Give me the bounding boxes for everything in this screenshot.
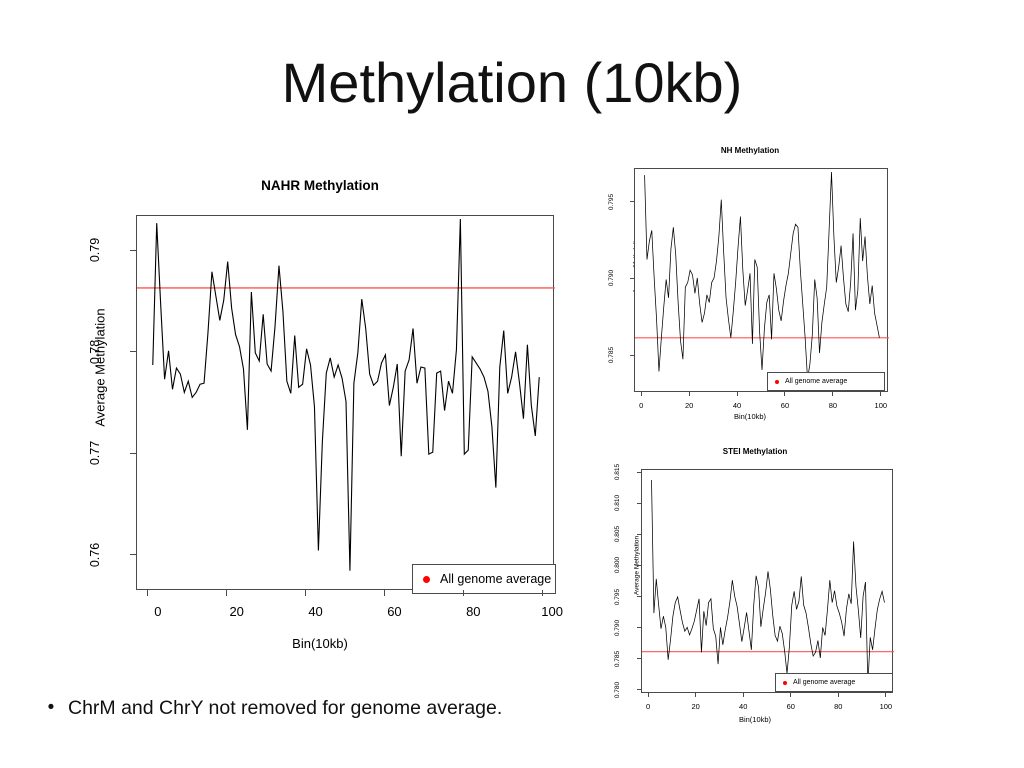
x-tick-mark	[880, 392, 881, 396]
series-line-stei	[642, 470, 894, 694]
y-tick-mark	[637, 503, 641, 504]
x-tick-label: 100	[522, 604, 582, 619]
legend-label-all-genome-average: All genome average	[440, 572, 551, 586]
chart-title-stei: STEI Methylation	[605, 447, 905, 456]
chart-title-nahr: NAHR Methylation	[70, 178, 570, 193]
y-tick-mark	[637, 627, 641, 628]
y-tick-mark	[130, 554, 136, 555]
y-tick-label: 0.805	[609, 521, 627, 547]
series-line-nh	[635, 169, 889, 393]
x-tick-mark	[695, 693, 696, 697]
y-tick-label: 0.790	[609, 615, 627, 641]
legend-dot-icon	[783, 681, 787, 685]
x-tick-label: 40	[286, 604, 346, 619]
x-tick-label: 100	[861, 401, 901, 410]
x-axis-label-nahr: Bin(10kb)	[70, 636, 570, 651]
x-tick-label: 80	[818, 702, 858, 711]
x-tick-mark	[305, 590, 306, 596]
plot-area-stei	[641, 469, 893, 693]
x-tick-mark	[784, 392, 785, 396]
y-tick-mark	[630, 278, 634, 279]
legend-nahr: All genome average	[412, 564, 556, 594]
chart-title-nh: NH Methylation	[600, 146, 900, 155]
y-tick-mark	[637, 472, 641, 473]
x-tick-label: 40	[723, 702, 763, 711]
x-axis-label-nh: Bin(10kb)	[600, 412, 900, 421]
legend-nh: All genome average	[767, 372, 885, 391]
y-tick-label: 0.790	[603, 266, 621, 290]
x-tick-mark	[147, 590, 148, 596]
y-tick-label: 0.795	[603, 190, 621, 214]
x-tick-mark	[463, 590, 464, 596]
bullet-list: • ChrM and ChrY not removed for genome a…	[34, 694, 654, 722]
x-tick-label: 80	[443, 604, 503, 619]
legend-stei: All genome average	[775, 673, 893, 692]
y-tick-mark	[637, 534, 641, 535]
x-tick-label: 100	[866, 702, 906, 711]
y-tick-label: 0.78	[86, 327, 104, 377]
x-tick-mark	[885, 693, 886, 697]
y-tick-mark	[637, 565, 641, 566]
legend-label-all-genome-average: All genome average	[785, 378, 847, 385]
x-tick-label: 60	[364, 604, 424, 619]
x-tick-mark	[226, 590, 227, 596]
x-tick-label: 80	[813, 401, 853, 410]
x-tick-mark	[743, 693, 744, 697]
y-tick-mark	[630, 355, 634, 356]
chart-stei-methylation: STEI Methylation Average Methylation Bin…	[605, 442, 905, 737]
x-tick-label: 20	[676, 702, 716, 711]
x-tick-label: 60	[765, 401, 805, 410]
y-tick-mark	[637, 658, 641, 659]
x-tick-label: 60	[771, 702, 811, 711]
chart-nh-methylation: NH Methylation Average Methylation Bin(1…	[600, 140, 900, 430]
x-tick-mark	[838, 693, 839, 697]
y-tick-label: 0.800	[609, 552, 627, 578]
y-tick-mark	[630, 201, 634, 202]
x-tick-mark	[832, 392, 833, 396]
x-tick-mark	[737, 392, 738, 396]
x-tick-label: 40	[717, 401, 757, 410]
y-tick-label: 0.77	[86, 428, 104, 478]
y-tick-label: 0.785	[609, 646, 627, 672]
y-tick-label: 0.815	[609, 459, 627, 485]
legend-label-all-genome-average: All genome average	[793, 679, 855, 686]
y-tick-label: 0.79	[86, 225, 104, 275]
series-line-nahr	[137, 216, 555, 591]
x-tick-label: 0	[128, 604, 188, 619]
legend-dot-icon	[423, 576, 430, 583]
y-tick-mark	[130, 351, 136, 352]
y-tick-mark	[637, 689, 641, 690]
y-tick-mark	[130, 250, 136, 251]
y-tick-label: 0.810	[609, 490, 627, 516]
bullet-item-text: ChrM and ChrY not removed for genome ave…	[68, 694, 502, 722]
y-tick-label: 0.76	[86, 530, 104, 580]
plot-area-nahr	[136, 215, 554, 590]
x-tick-mark	[641, 392, 642, 396]
y-tick-label: 0.785	[603, 343, 621, 367]
legend-dot-icon	[775, 380, 779, 384]
slide-canvas: Methylation (10kb) NAHR Methylation Aver…	[0, 0, 1024, 768]
x-tick-mark	[542, 590, 543, 596]
x-tick-mark	[790, 693, 791, 697]
y-tick-mark	[130, 453, 136, 454]
y-tick-label: 0.795	[609, 584, 627, 610]
page-title: Methylation (10kb)	[0, 54, 1024, 113]
plot-area-nh	[634, 168, 888, 392]
y-tick-mark	[637, 596, 641, 597]
chart-nahr-methylation: NAHR Methylation Average Methylation Bin…	[70, 170, 570, 665]
x-tick-label: 20	[207, 604, 267, 619]
bullet-marker-icon: •	[34, 694, 68, 722]
x-tick-mark	[689, 392, 690, 396]
x-tick-label: 20	[669, 401, 709, 410]
x-tick-mark	[384, 590, 385, 596]
x-tick-label: 0	[621, 401, 661, 410]
